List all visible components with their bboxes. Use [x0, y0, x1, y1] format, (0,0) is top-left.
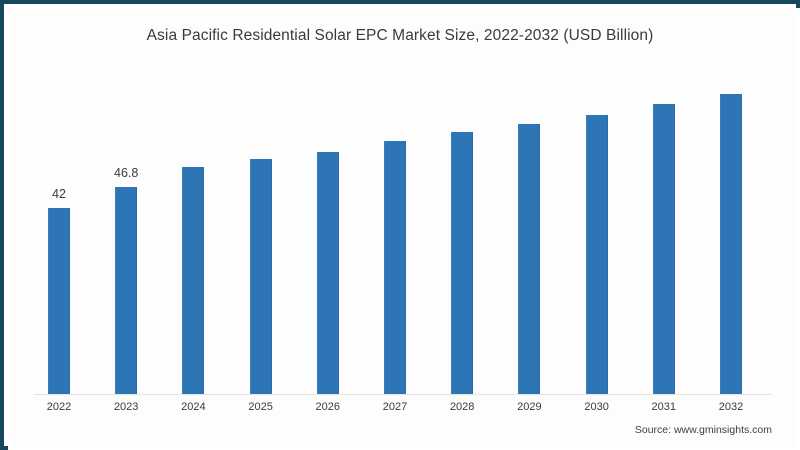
x-tick-2024: 2024 — [163, 401, 223, 413]
bar-2029 — [518, 124, 540, 394]
x-tick-2029: 2029 — [499, 401, 559, 413]
bar-2023 — [115, 187, 137, 394]
bar-2022 — [48, 208, 70, 394]
source-attribution: Source: www.gminsights.com — [635, 424, 772, 436]
x-tick-2032: 2032 — [701, 401, 761, 413]
x-axis-line — [34, 394, 772, 395]
bar-2028 — [451, 132, 473, 394]
bar-2030 — [586, 115, 608, 394]
bar-2025 — [250, 159, 272, 394]
x-tick-2028: 2028 — [432, 401, 492, 413]
x-tick-2022: 2022 — [29, 401, 89, 413]
x-tick-2023: 2023 — [96, 401, 156, 413]
bar-2031 — [653, 104, 675, 394]
plot-area: 4246.8 202220232024202520262027202820292… — [0, 0, 800, 450]
bar-value-label-2023: 46.8 — [96, 166, 156, 180]
x-tick-2025: 2025 — [231, 401, 291, 413]
bar-value-label-2022: 42 — [29, 187, 89, 201]
bar-2032 — [720, 94, 742, 394]
x-tick-2031: 2031 — [634, 401, 694, 413]
x-tick-2030: 2030 — [567, 401, 627, 413]
x-tick-2027: 2027 — [365, 401, 425, 413]
x-tick-2026: 2026 — [298, 401, 358, 413]
bar-2024 — [182, 167, 204, 394]
bar-2026 — [317, 152, 339, 394]
bar-2027 — [384, 141, 406, 394]
